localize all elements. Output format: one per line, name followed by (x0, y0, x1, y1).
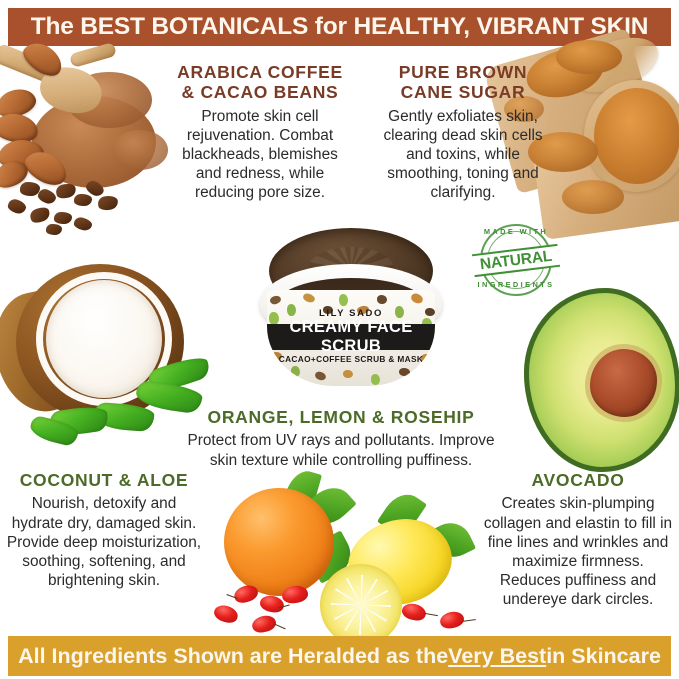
ingredient-block-sugar: PURE BROWN CANE SUGAR Gently exfoliates … (378, 62, 548, 202)
stamp-top-text: MADE WITH (476, 227, 556, 236)
ingredient-block-coffee: ARABICA COFFEE & CACAO BEANS Promote ski… (168, 62, 352, 202)
body-coconut: Nourish, detoxify and hydrate dry, damag… (4, 494, 204, 589)
avocado-photo (524, 288, 679, 472)
heading-sugar: PURE BROWN CANE SUGAR (378, 62, 548, 103)
ingredient-block-coconut: COCONUT & ALOE Nourish, detoxify and hyd… (4, 470, 204, 590)
orange-lemon-rosehip-photo (212, 468, 480, 636)
infographic-canvas: The BEST BOTANICALS for HEALTHY, VIBRANT… (0, 0, 679, 679)
jar-body: LILY SADO CREAMY FACE SCRUB CACAO+COFFEE… (267, 290, 435, 386)
body-sugar: Gently exfoliates skin, clearing dead sk… (378, 107, 548, 202)
ingredient-block-citrus: ORANGE, LEMON & ROSEHIP Protect from UV … (176, 407, 506, 470)
avocado-pit (590, 349, 657, 417)
body-avocado: Creates skin-plumping collagen and elast… (482, 494, 674, 609)
footer-banner: All Ingredients Shown are Heralded as th… (8, 636, 671, 676)
footer-text-before: All Ingredients Shown are Heralded as th… (18, 644, 448, 669)
heading-avocado: AVOCADO (482, 470, 674, 490)
cacao-beans-photo (0, 44, 170, 240)
jar-subtitle-text: CACAO+COFFEE SCRUB & MASK (267, 354, 435, 364)
footer-text-underlined: Very Best (448, 644, 546, 669)
heading-coffee: ARABICA COFFEE & CACAO BEANS (168, 62, 352, 103)
jar-title-text: CREAMY FACE SCRUB (267, 318, 435, 356)
footer-text-after: in Skincare (546, 644, 661, 669)
jar-label-bar: CREAMY FACE SCRUB (267, 324, 435, 350)
body-citrus: Protect from UV rays and pollutants. Imp… (176, 431, 506, 469)
body-coffee: Promote skin cell rejuvenation. Combat b… (168, 107, 352, 202)
header-title: The BEST BOTANICALS for HEALTHY, VIBRANT… (31, 13, 649, 41)
product-jar-photo: LILY SADO CREAMY FACE SCRUB CACAO+COFFEE… (258, 228, 444, 386)
heading-citrus: ORANGE, LEMON & ROSEHIP (176, 407, 506, 427)
heading-coconut: COCONUT & ALOE (4, 470, 204, 490)
ingredient-block-avocado: AVOCADO Creates skin-plumping collagen a… (482, 470, 674, 609)
